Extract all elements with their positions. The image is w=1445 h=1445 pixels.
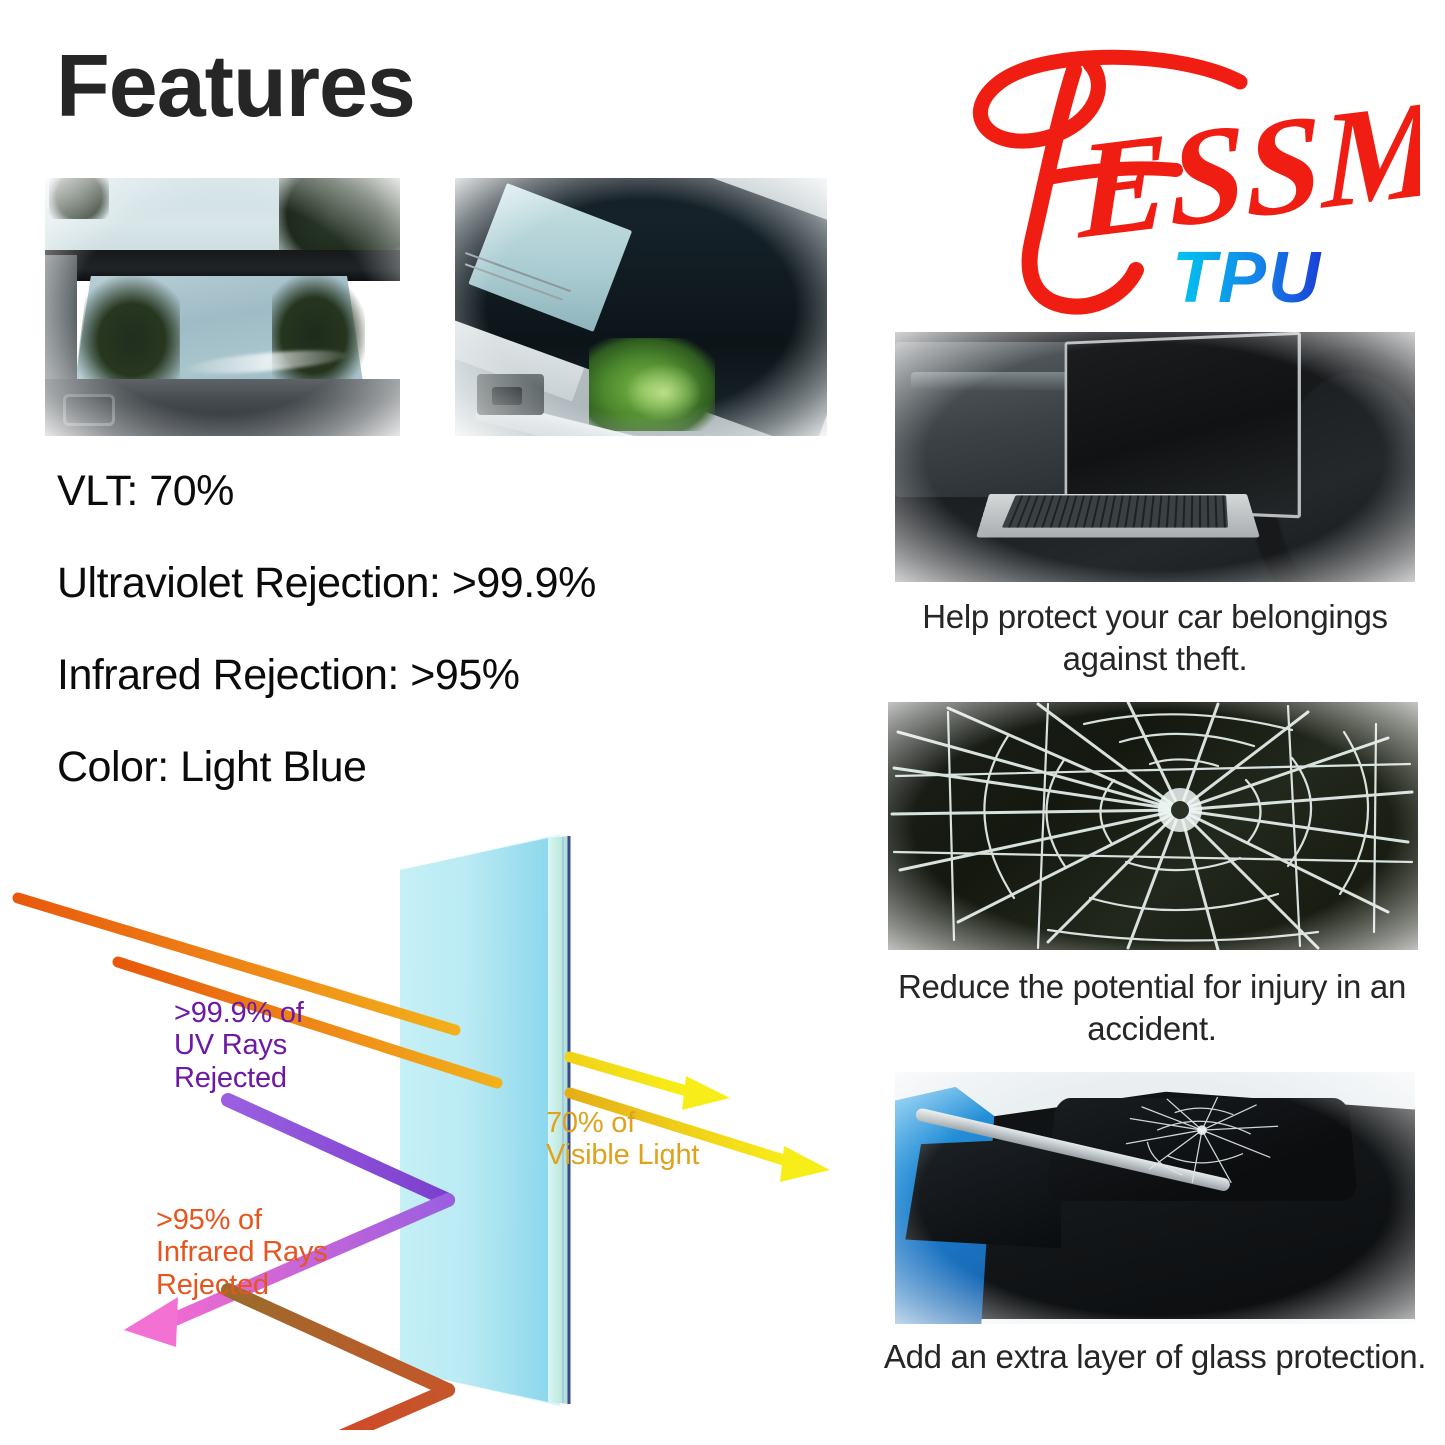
blue-car-sunroof-photo [895,1072,1415,1324]
laptop-screen [1065,332,1301,518]
laptop-in-car-photo [895,332,1415,582]
logo-sub-wordmark: TPU [1172,238,1322,318]
brand-logo: ESSMO TPU [940,30,1420,320]
roof-crack-pattern [1124,1097,1280,1178]
spec-list: VLT: 70% Ultraviolet Rejection: >99.9% I… [57,470,757,838]
light-rejection-diagram [0,810,840,1430]
air-vent [63,394,115,426]
page-title: Features [56,42,415,130]
sunroof-interior-photo [45,178,400,436]
crack-pattern [888,702,1418,950]
spec-item-vlt: VLT: 70% [57,470,757,513]
foliage-highlight [626,364,700,421]
benefit-caption-injury: Reduce the potential for injury in an ac… [872,966,1432,1050]
glass-pane [400,834,569,1406]
benefit-caption-theft: Help protect your car belongings against… [885,596,1425,680]
shattered-glass-photo [888,702,1418,950]
infographic-page: Features [0,0,1445,1445]
infrared-rejection-label: >95% of Infrared Rays Rejected [156,1204,327,1301]
spec-item-color: Color: Light Blue [57,746,757,789]
visible-light-label: 70% of Visible Light [546,1107,699,1172]
logo-wordmark: ESSMO [1074,57,1420,268]
spec-item-uv: Ultraviolet Rejection: >99.9% [57,562,757,605]
glass-tree-left [73,276,180,392]
logo-svg: ESSMO TPU [940,30,1420,320]
diagram-svg [0,810,840,1430]
a-pillar [45,255,77,399]
seat-pocket [911,372,1072,390]
sunroof-angled-photo [455,178,827,436]
tree-left [49,178,109,219]
console-button [492,387,522,405]
side-window [905,1138,1061,1249]
benefit-caption-protection: Add an extra layer of glass protection. [880,1336,1430,1378]
spec-item-infrared: Infrared Rejection: >95% [57,654,757,697]
uv-rejection-label: >99.9% of UV Rays Rejected [174,997,304,1094]
laptop-keyboard [1002,495,1228,527]
glass-tree-right [272,276,364,395]
tree-right [279,178,400,255]
